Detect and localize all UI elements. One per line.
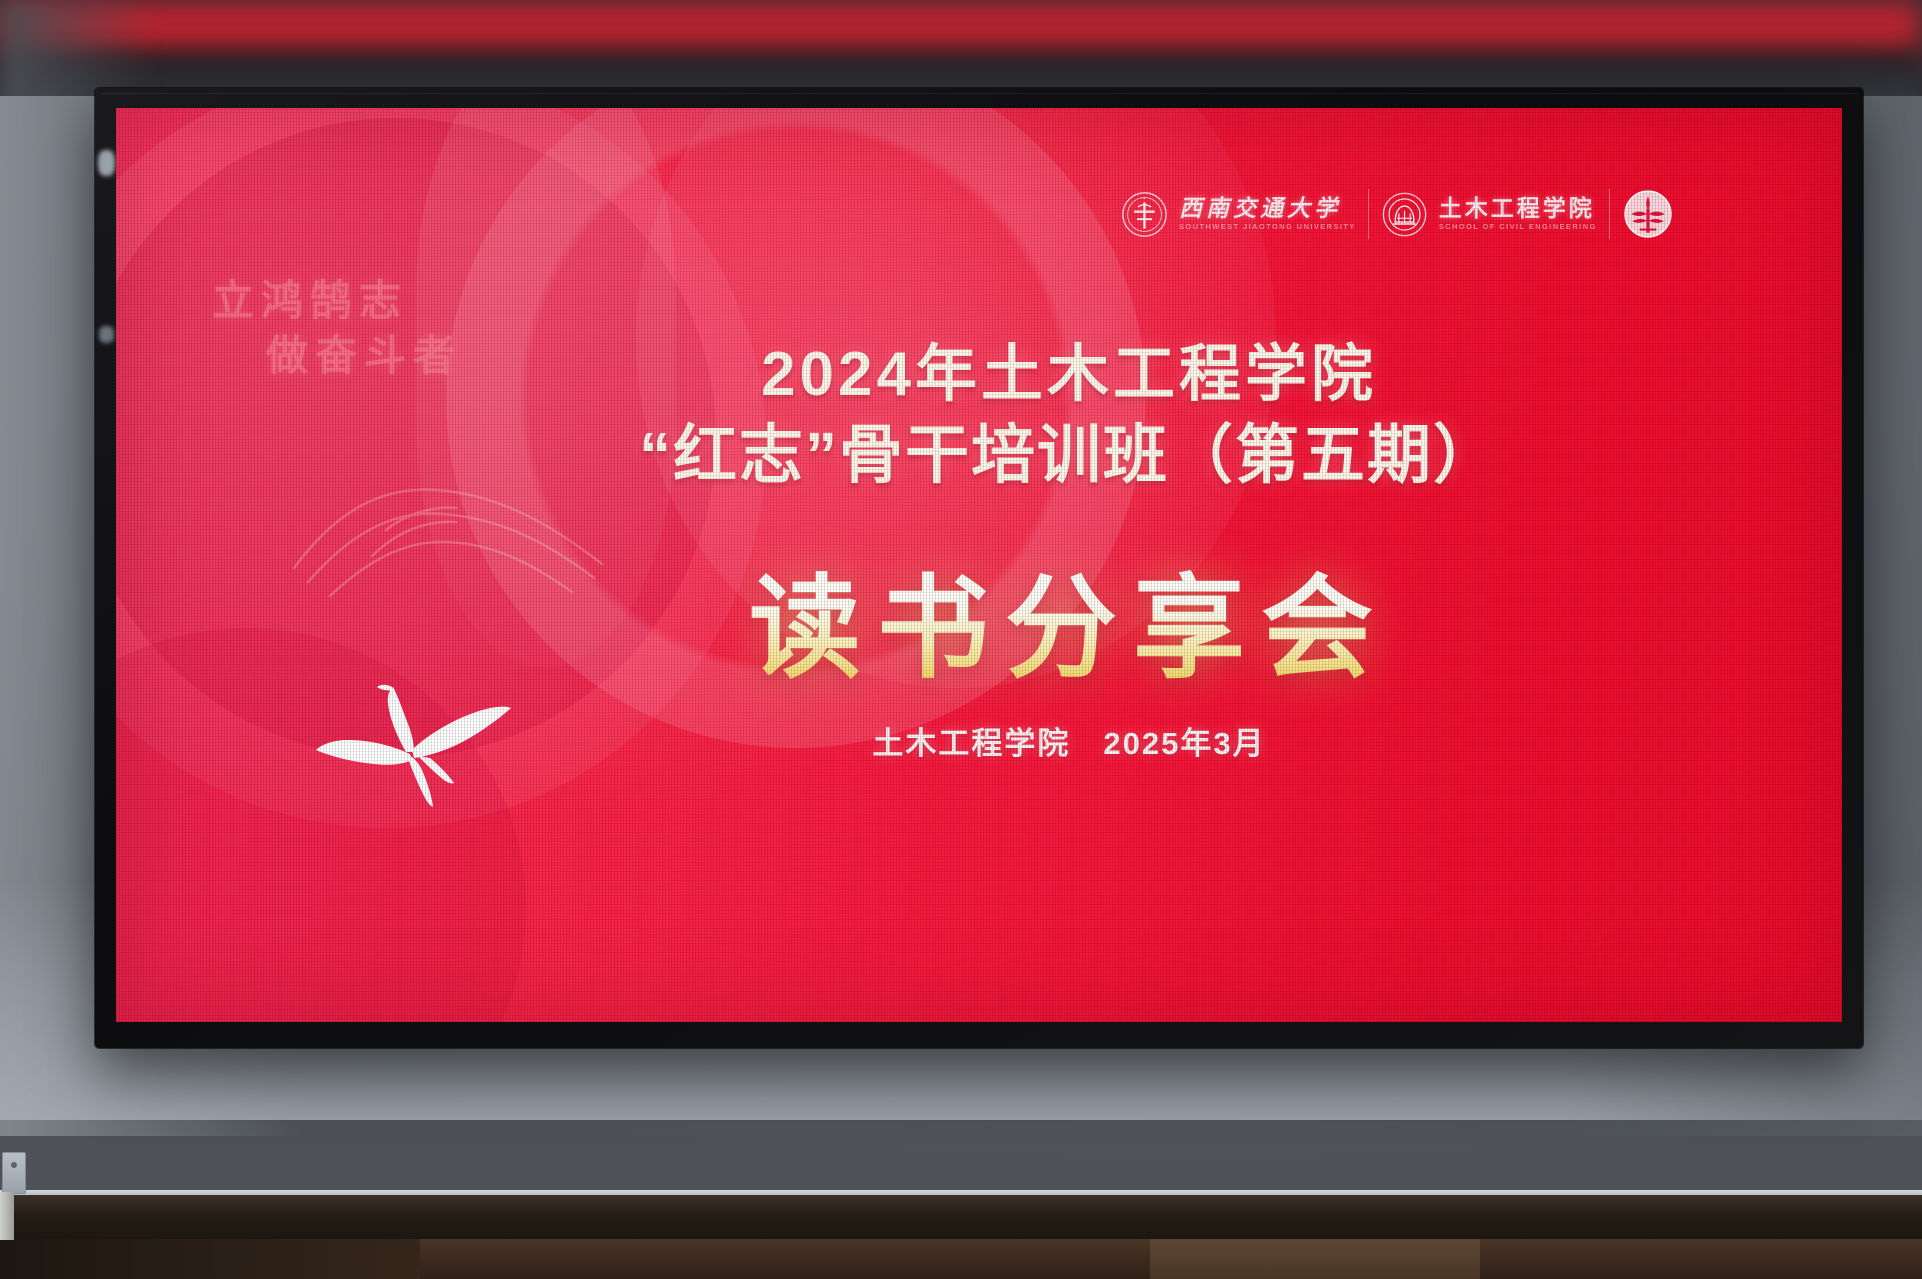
logo-school: 土木工程学院 SCHOOL OF CIVIL ENGINEERING	[1381, 191, 1597, 238]
logo-university: ★ 西南交通大学 SOUTHWEST JIAOTONG UNIVERSITY	[1121, 191, 1356, 238]
svg-text:★: ★	[1143, 195, 1147, 200]
logo-divider-2	[1609, 189, 1610, 239]
led-display: 立鸿鹄志 做奋斗者	[95, 88, 1863, 1048]
slide-footer: 土木工程学院 2025年3月	[116, 718, 1842, 763]
slide-headline: 读书分享会	[116, 538, 1842, 700]
civil-engineering-seal-icon	[1381, 191, 1428, 238]
floor-strip	[1150, 1239, 1480, 1279]
baseboard	[0, 1195, 1922, 1241]
led-panel: 立鸿鹄志 做奋斗者	[116, 108, 1842, 1022]
wall-socket-plate	[2, 1152, 26, 1194]
logo-university-text: 西南交通大学 SOUTHWEST JIAOTONG UNIVERSITY	[1179, 196, 1356, 233]
slogan-line-1: 立鸿鹄志	[212, 277, 408, 324]
door-jamb	[0, 1192, 14, 1240]
bezel-reflection-top	[98, 150, 115, 176]
logo-university-en: SOUTHWEST JIAOTONG UNIVERSITY	[1179, 222, 1356, 233]
logo-row: ★ 西南交通大学 SOUTHWEST JIAOTONG UNIVERSITY	[1121, 188, 1674, 240]
youth-league-emblem-icon	[1622, 188, 1674, 240]
logo-school-cn: 土木工程学院	[1439, 196, 1597, 220]
room-scene: 立鸿鹄志 做奋斗者	[0, 0, 1922, 1279]
logo-university-cn: 西南交通大学	[1179, 196, 1356, 220]
logo-divider-1	[1368, 189, 1369, 239]
swjtu-seal-icon: ★	[1121, 191, 1168, 238]
logo-school-en: SCHOOL OF CIVIL ENGINEERING	[1439, 222, 1597, 233]
bezel-reflection-lower	[99, 326, 114, 343]
title-line-1: 2024年土木工程学院	[116, 323, 1842, 413]
title-line-2: “红志”骨干培训班（第五期）	[116, 404, 1842, 496]
logo-school-text: 土木工程学院 SCHOOL OF CIVIL ENGINEERING	[1439, 196, 1597, 233]
floor-shadow	[0, 1239, 420, 1279]
